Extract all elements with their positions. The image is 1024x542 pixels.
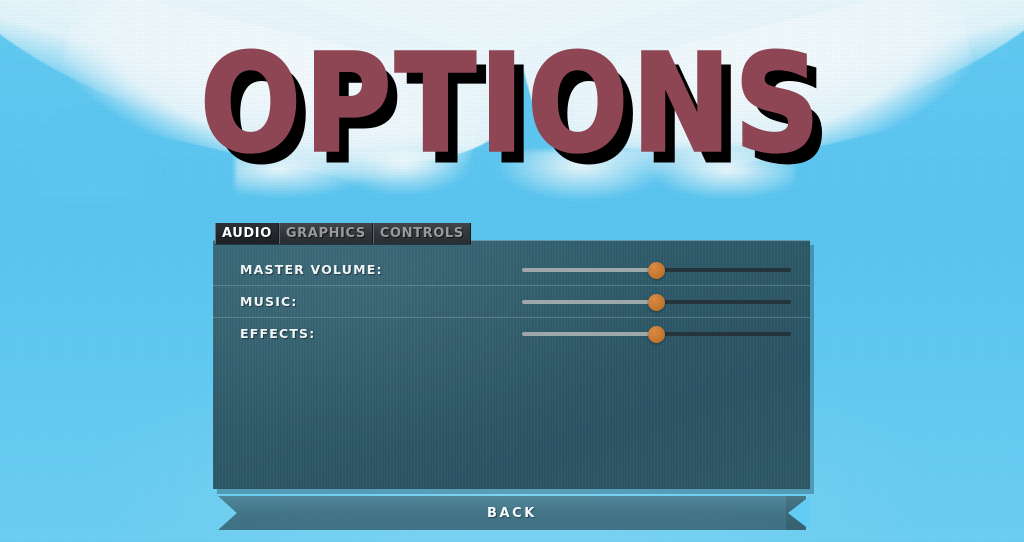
back-button[interactable]: BACK <box>218 496 806 530</box>
slider-fill <box>522 332 657 336</box>
setting-label: MUSIC: <box>240 294 298 309</box>
setting-row-master-volume: MASTER VOLUME: <box>213 254 810 285</box>
settings-list: MASTER VOLUME: MUSIC: EFFECTS: <box>213 254 810 349</box>
setting-label: MASTER VOLUME: <box>240 262 383 277</box>
setting-row-music: MUSIC: <box>213 285 810 317</box>
page-title: OPTIONS <box>0 36 1024 171</box>
slider-knob[interactable] <box>648 262 665 279</box>
tab-bar: AUDIO GRAPHICS CONTROLS <box>215 223 471 244</box>
tab-controls[interactable]: CONTROLS <box>373 223 471 244</box>
options-screen: OPTIONS AUDIO GRAPHICS CONTROLS MASTER V… <box>0 0 1024 542</box>
setting-row-effects: EFFECTS: <box>213 317 810 349</box>
effects-slider[interactable] <box>522 324 791 344</box>
slider-fill <box>522 268 657 272</box>
setting-label: EFFECTS: <box>240 326 315 341</box>
slider-knob[interactable] <box>648 294 665 311</box>
tab-audio[interactable]: AUDIO <box>215 223 279 244</box>
slider-fill <box>522 300 657 304</box>
slider-knob[interactable] <box>648 326 665 343</box>
back-button-label: BACK <box>487 506 537 521</box>
music-slider[interactable] <box>522 292 791 312</box>
master-volume-slider[interactable] <box>522 260 791 280</box>
tab-graphics[interactable]: GRAPHICS <box>279 223 373 244</box>
